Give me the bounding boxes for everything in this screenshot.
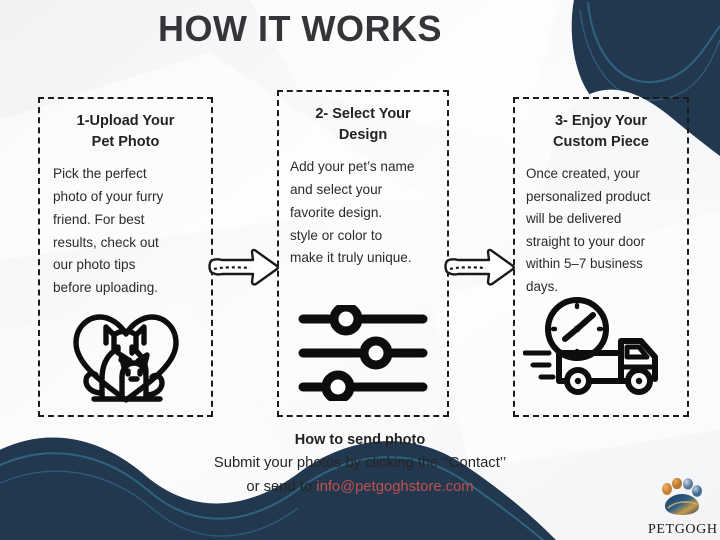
dog-cat-heart-icon xyxy=(64,305,188,409)
brand-wordmark: PETGOGH xyxy=(648,522,712,538)
card-body-text: Pick the perfect photo of your furry fri… xyxy=(51,163,200,300)
sliders-icon xyxy=(297,305,429,401)
card-icon-wrap xyxy=(515,297,687,397)
step-card-enjoy-piece: 3- Enjoy Your Custom Piece Once created,… xyxy=(513,97,689,417)
paw-print-icon xyxy=(657,478,703,518)
footer-email-prefix: or send to xyxy=(246,479,316,495)
arrow-step-2-to-3 xyxy=(444,247,516,287)
footer-title: How to send photo xyxy=(0,432,720,448)
card-content: 2- Select Your Design Add your pet’s nam… xyxy=(279,92,447,270)
footer-contact-block: How to send photo Submit your photos by … xyxy=(0,432,720,502)
footer-instruction-line: Submit your photos by clicking the ‘‘Con… xyxy=(0,453,720,474)
arrow-step-1-to-2 xyxy=(208,247,280,287)
card-body-text: Once created, your personalized product … xyxy=(526,163,676,298)
card-body-text: Add your pet’s name and select your favo… xyxy=(290,156,436,270)
brand-logo: PETGOGH xyxy=(648,478,712,538)
card-content: 1-Upload Your Pet Photo Pick the perfect… xyxy=(40,99,211,300)
card-icon-wrap xyxy=(279,305,447,401)
card-heading: 3- Enjoy Your Custom Piece xyxy=(526,111,676,152)
footer-email-line: or send to info@petgoghstore.com xyxy=(0,477,720,498)
step-card-select-design: 2- Select Your Design Add your pet’s nam… xyxy=(277,90,449,417)
contact-email-link[interactable]: info@petgoghstore.com xyxy=(316,479,473,495)
card-heading: 2- Select Your Design xyxy=(290,104,436,145)
infographic-page: HOW IT WORKS 1-Upload Your Pet Photo Pic… xyxy=(0,0,720,540)
delivery-truck-clock-icon xyxy=(523,297,679,397)
card-heading: 1-Upload Your Pet Photo xyxy=(51,111,200,152)
card-icon-wrap xyxy=(40,305,211,409)
step-card-upload-photo: 1-Upload Your Pet Photo Pick the perfect… xyxy=(38,97,213,417)
page-title: HOW IT WORKS xyxy=(0,8,600,50)
card-content: 3- Enjoy Your Custom Piece Once created,… xyxy=(515,99,687,298)
